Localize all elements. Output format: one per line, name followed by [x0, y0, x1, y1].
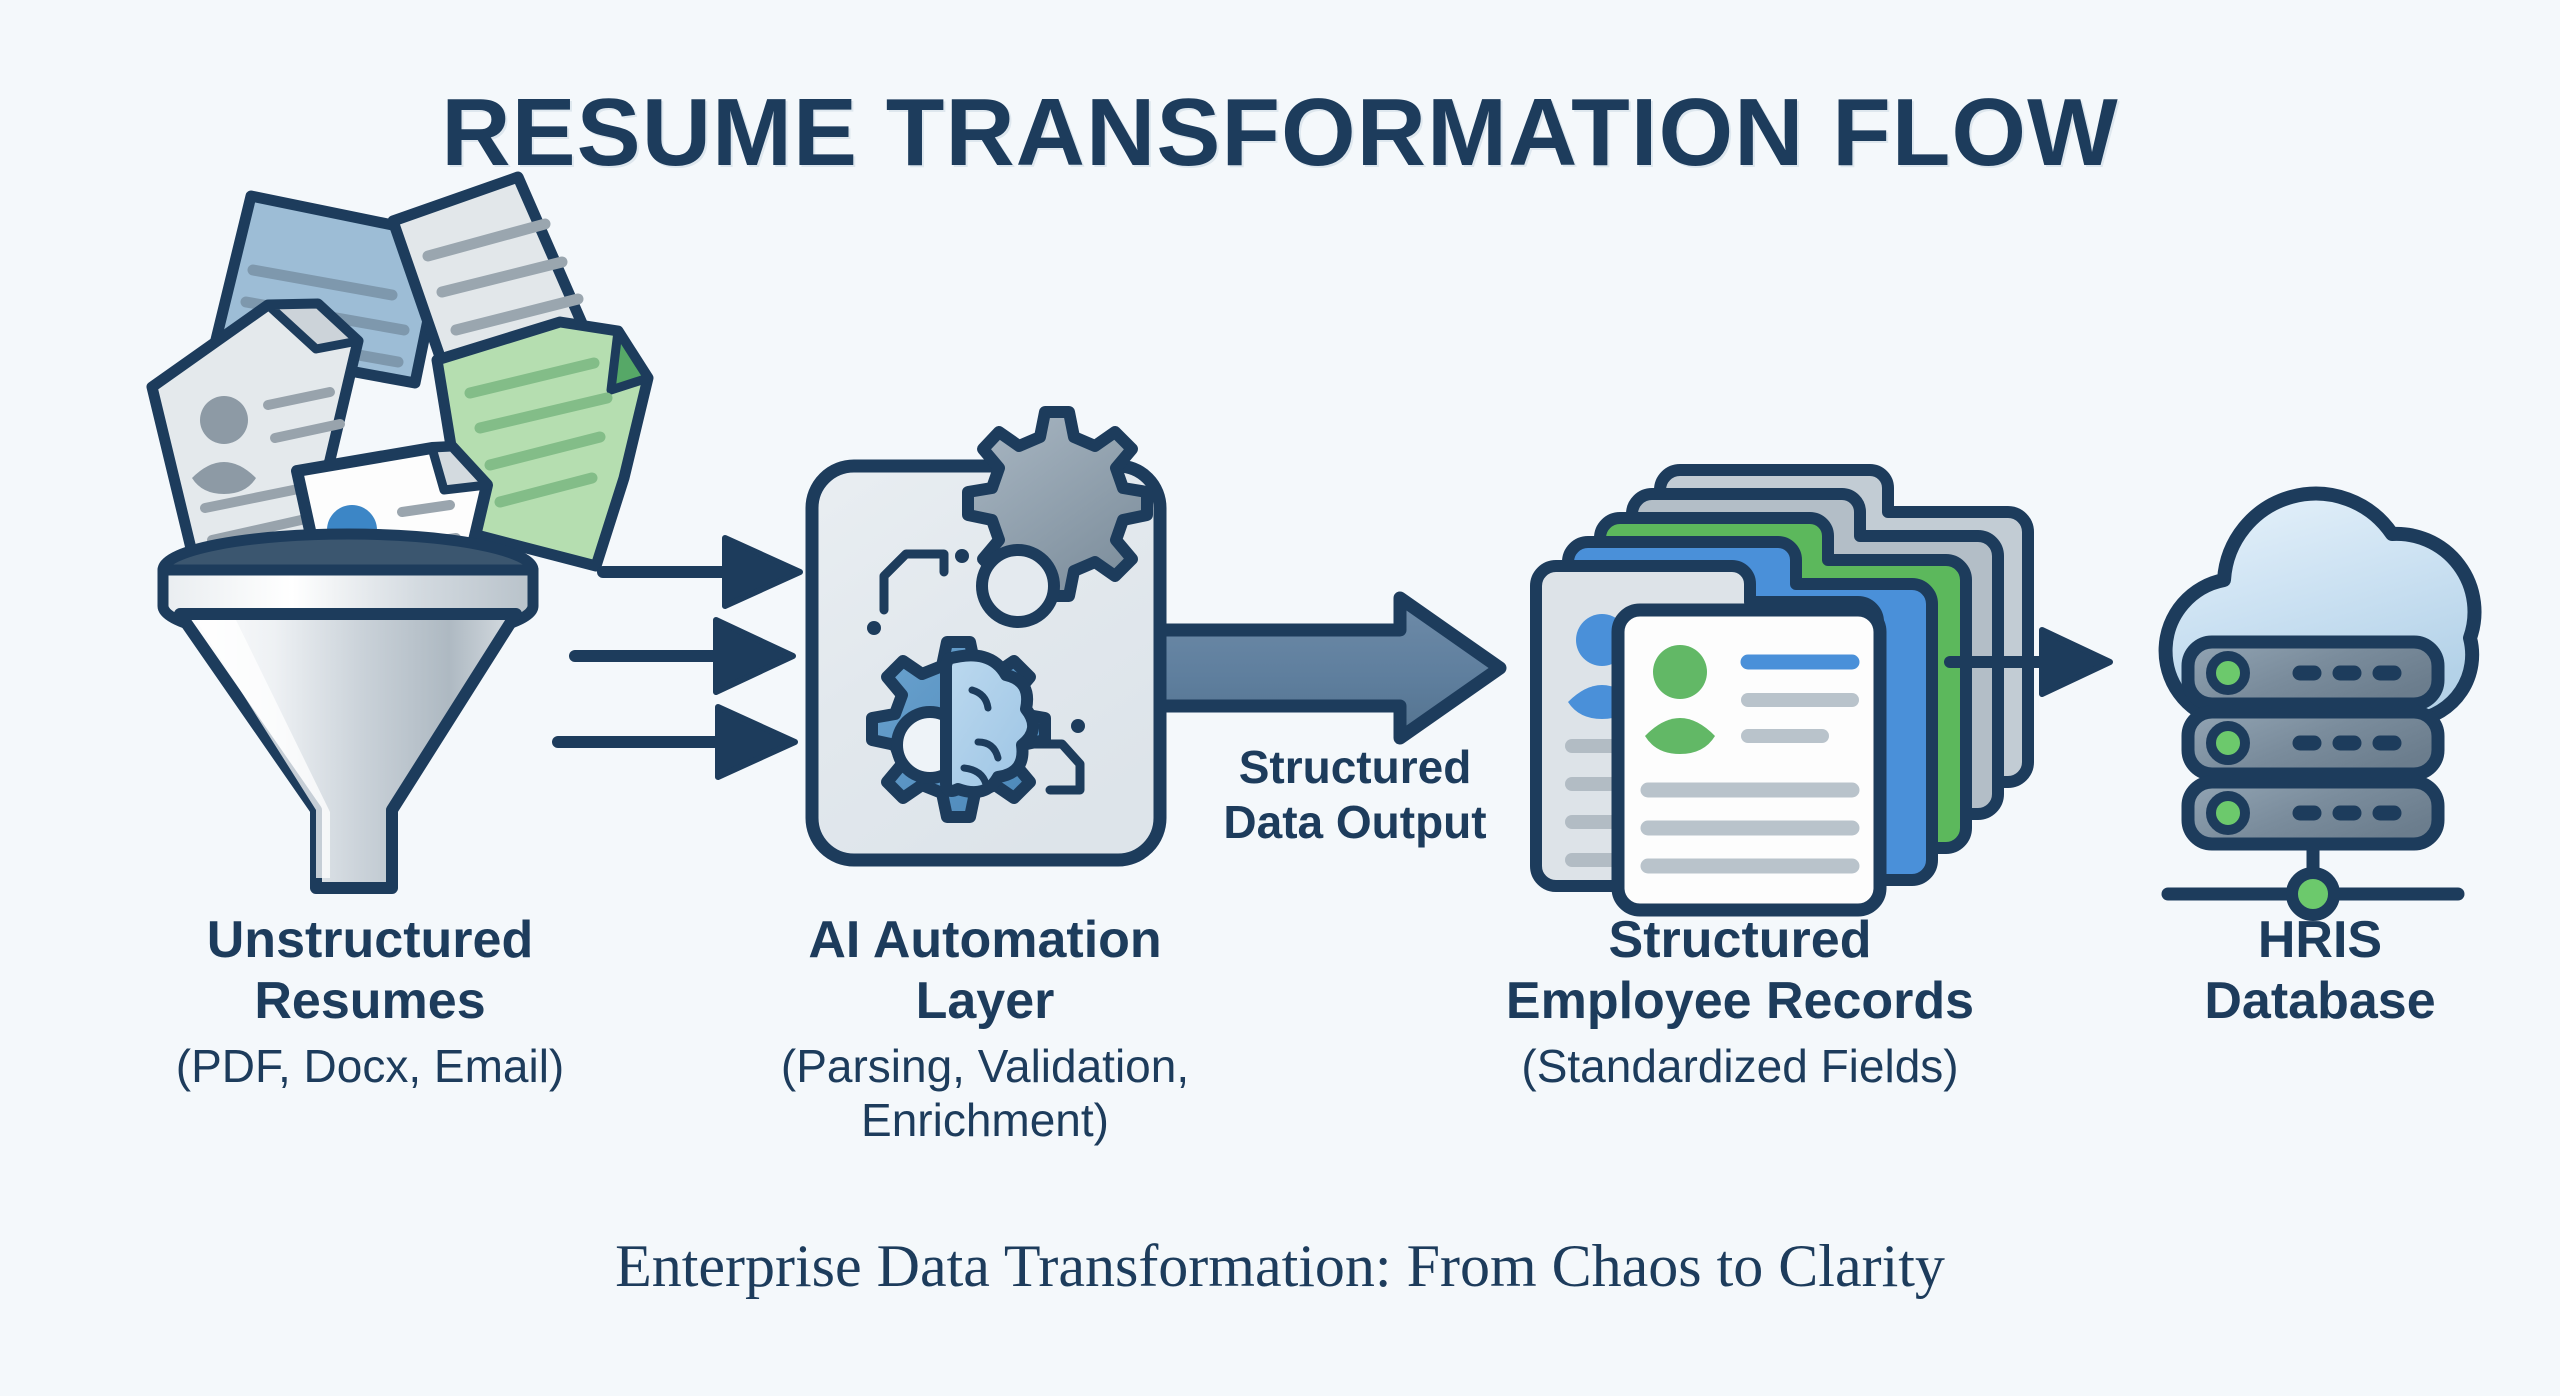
stage-label-ai-automation-layer: AI Automation Layer (Parsing, Validation… [700, 910, 1270, 1147]
label-main-line1: Structured [1400, 910, 2080, 971]
ai-automation-box [812, 412, 1160, 860]
label-main-line2: Resumes [60, 971, 680, 1032]
label-main-line2: Database [2120, 971, 2520, 1032]
label-main-line1: HRIS [2120, 910, 2520, 971]
cloud-server-icon [2166, 494, 2475, 915]
brain-gear-icon [872, 642, 1045, 817]
label-sub-line2: Enrichment) [700, 1093, 1270, 1147]
flow-illustration [0, 0, 2560, 1396]
stage-label-hris-database: HRIS Database [2120, 910, 2520, 1033]
input-arrows-group [558, 538, 800, 777]
stage-label-structured-employee-records: Structured Employee Records (Standardize… [1400, 910, 2080, 1093]
input-arrow-2 [575, 620, 793, 692]
label-sub-line1: (PDF, Docx, Email) [60, 1039, 680, 1093]
footer-caption: Enterprise Data Transformation: From Cha… [0, 1232, 2560, 1301]
stacked-record-cards-icon [1536, 470, 2028, 910]
label-main-line1: Unstructured [60, 910, 680, 971]
output-label-line2: Data Output [1190, 795, 1520, 850]
record-card-white-front [1618, 610, 1880, 910]
server-racks [2188, 642, 2438, 844]
label-sub-line1: (Parsing, Validation, [700, 1039, 1270, 1093]
stage-label-unstructured-resumes: Unstructured Resumes (PDF, Docx, Email) [60, 910, 680, 1093]
label-sub-line1: (Standardized Fields) [1400, 1039, 2080, 1093]
output-label-line1: Structured [1190, 740, 1520, 795]
label-main-line2: Layer [700, 971, 1270, 1032]
input-arrow-3 [558, 707, 795, 777]
label-main-line1: AI Automation [700, 910, 1270, 971]
label-main-line2: Employee Records [1400, 971, 2080, 1032]
structured-data-output-arrow [1160, 598, 1500, 738]
funnel-shape [163, 534, 533, 888]
structured-data-output-label: Structured Data Output [1190, 740, 1520, 850]
funnel-with-resumes-icon [152, 177, 648, 888]
server-led-icons [2211, 656, 2245, 830]
diagram-canvas: RESUME TRANSFORMATION FLOW [0, 0, 2560, 1396]
network-connector-icon [2168, 844, 2458, 915]
input-arrow-1 [603, 538, 800, 606]
